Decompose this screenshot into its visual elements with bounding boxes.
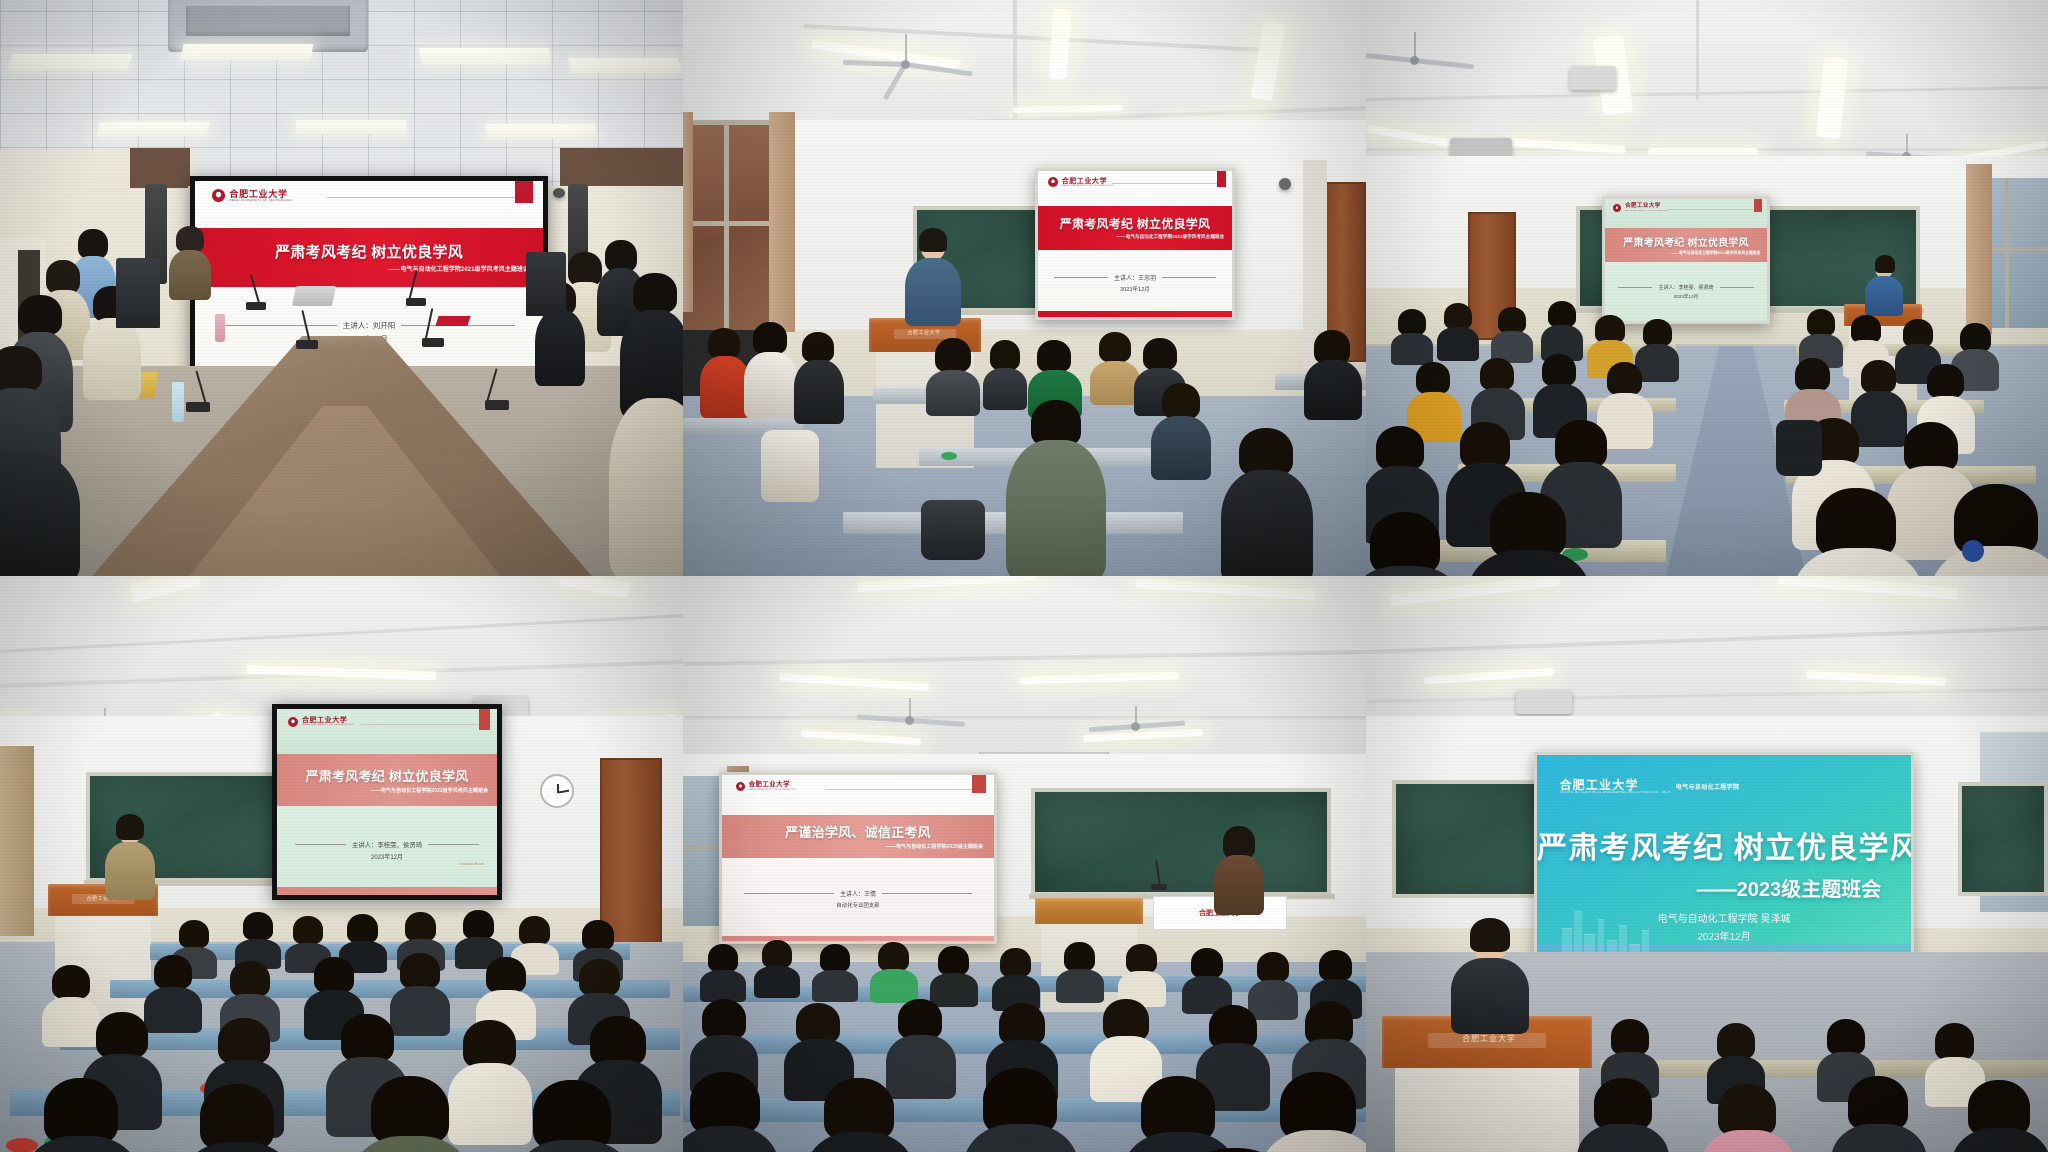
curtain: [769, 112, 795, 332]
speaker: [1215, 830, 1263, 912]
speaker: [1452, 924, 1528, 1030]
projector-screen[interactable]: 合肥工业大学 HEFEI UNIVERSITY OF TECHNOLOGY 严肃…: [1035, 168, 1235, 320]
slide-subtitle: ——电气与自动化工程学院2022级学风考风主题班会: [371, 787, 488, 794]
presenter: [168, 228, 212, 298]
podium-label: 合肥工业大学: [1462, 1033, 1516, 1044]
projector: [1516, 690, 1572, 714]
attendee: [813, 948, 857, 1000]
attendee: [931, 950, 977, 1004]
slide-logo-en: HEFEI UNIVERSITY OF TECHNOLOGY: [749, 789, 797, 791]
office-chair: [526, 252, 566, 316]
water-bottle: [172, 382, 184, 422]
attendee: [745, 326, 797, 418]
slide-presenter: 主讲人：李桂雯、侯贤琦: [352, 840, 422, 849]
attendee: [1474, 500, 1584, 576]
slide-logo-en: SCHOOL OF ELECTRICAL ENGINEERING AND AUT…: [1559, 792, 1670, 795]
attendee: [811, 1086, 909, 1152]
slide-title: 严肃考风考纪 树立优良学风: [275, 241, 463, 262]
attendee: [1057, 946, 1103, 1000]
slide-logo-cn: 合肥工业大学: [1062, 178, 1114, 185]
attendee: [1800, 496, 1916, 576]
attendee: [1021, 406, 1091, 576]
camera: [553, 188, 565, 198]
slide-date: 2023年12月: [1120, 285, 1150, 293]
classroom-window: [1986, 178, 2048, 328]
attendee: [701, 948, 745, 1000]
attendee: [518, 1088, 630, 1152]
attendee: [1706, 1090, 1790, 1152]
attendee: [1938, 492, 2048, 576]
slide-subtitle: ——电气与自动化工程学院2021级学风考风主题班会: [388, 264, 529, 273]
attendee: [927, 342, 979, 412]
attendee: [1836, 1082, 1922, 1152]
backpack: [921, 500, 985, 560]
attendee: [1091, 336, 1139, 402]
attendee: [889, 1004, 953, 1096]
podium-label: 合肥工业大学: [907, 329, 940, 336]
slide-presenter: 主讲人：李桂雯、侯贤琦: [1658, 284, 1713, 291]
slide-presenter: 电气与自动化工程学院 吴泽城: [1537, 910, 1911, 925]
speaker: [106, 818, 154, 896]
attendee: [1153, 388, 1209, 478]
slide-logo-dept: 电气与自动化工程学院: [1676, 782, 1740, 791]
led-display-screen[interactable]: 合肥工业大学 HEFEI UNIVERSITY OF TECHNOLOGY 严肃…: [272, 704, 502, 900]
slide-subtitle: ——2023级主题班会: [1697, 873, 1882, 902]
slide-title: 严谨治学风、诚信正考风: [785, 822, 931, 841]
slide-watermark: Zhubiao Book: [459, 861, 484, 866]
attendee: [1305, 334, 1361, 420]
classroom-window: [683, 120, 773, 330]
attendee: [1183, 952, 1231, 1010]
slide-date: 2023年12月: [371, 852, 403, 861]
photo-panel-3[interactable]: 合肥工业大学 HEFEI UNIVERSITY OF TECHNOLOGY 严肃…: [1366, 0, 2048, 576]
photo-collage: 合肥工业大学 HEFEI UNIVERSITY OF TECHNOLOGY 严肃…: [0, 0, 2048, 1152]
attendee: [993, 952, 1039, 1008]
attendee: [612, 398, 683, 576]
slide-presenter: 主讲人：刘开阳: [343, 320, 396, 331]
attendee: [1438, 306, 1478, 358]
projector-screen[interactable]: 合肥工业大学 HEFEI UNIVERSITY OF TECHNOLOGY 严谨…: [719, 772, 997, 944]
photo-panel-5[interactable]: 合肥工业大学 HEFEI UNIVERSITY OF TECHNOLOGY 严谨…: [683, 576, 1366, 1152]
slide-presenter: 主讲人：王倩: [840, 889, 876, 898]
slide-title: 严肃考风考纪 树立优良学风: [306, 766, 469, 785]
attendee: [622, 278, 683, 418]
attendee: [1265, 1080, 1366, 1152]
attendee: [1119, 948, 1165, 1004]
slide-title: 严肃考风考纪 树立优良学风: [1537, 823, 1911, 867]
slide-logo-cn: 合肥工业大学: [229, 190, 293, 199]
slide-logo-en: HEFEI UNIVERSITY OF TECHNOLOGY: [1625, 210, 1669, 212]
name-card: [435, 316, 470, 326]
camera: [1279, 178, 1291, 190]
attendee: [755, 944, 799, 996]
slide-logo: 合肥工业大学 SCHOOL OF ELECTRICAL ENGINEERING …: [1559, 779, 1739, 795]
attendee: [1542, 304, 1582, 358]
attendee: [701, 332, 749, 418]
attendee: [969, 1076, 1073, 1152]
curtain: [1966, 164, 1992, 334]
slide-logo: 合肥工业大学 HEFEI UNIVERSITY OF TECHNOLOGY: [212, 189, 293, 202]
speaker: [1866, 258, 1902, 312]
slide-logo-cn: 合肥工业大学: [1559, 779, 1670, 792]
attendee: [0, 452, 76, 576]
office-chair: [116, 258, 160, 328]
slide-panel-4: 合肥工业大学 HEFEI UNIVERSITY OF TECHNOLOGY 严肃…: [277, 709, 497, 895]
projector: [1570, 66, 1616, 90]
slide-date: 2023年12月: [1674, 294, 1699, 300]
slide-subtitle: ——电气与自动化工程学院2020级主题班会: [886, 843, 983, 850]
attendee: [356, 1084, 466, 1152]
photo-panel-2[interactable]: 合肥工业大学 HEFEI UNIVERSITY OF TECHNOLOGY 严肃…: [683, 0, 1366, 576]
water-bottle: [215, 314, 225, 342]
attendee: [1582, 1084, 1664, 1152]
attendee: [186, 1092, 290, 1152]
slide-subtitle: ——电气与自动化工程学院2021级学风考风主题班会: [1116, 234, 1224, 240]
attendee: [1127, 1084, 1233, 1152]
slide-panel-2: 合肥工业大学 HEFEI UNIVERSITY OF TECHNOLOGY 严肃…: [1038, 171, 1232, 317]
slide-title: 严肃考风考纪 树立优良学风: [1623, 234, 1748, 249]
backpack: [1776, 420, 1822, 476]
attendee: [236, 916, 280, 966]
slide-presenter: 主讲人：王忠羽: [1114, 273, 1156, 282]
slide-logo-en: HEFEI UNIVERSITY OF TECHNOLOGY: [1062, 185, 1114, 187]
attendee: [1956, 1086, 2046, 1152]
slide-panel-3: 合肥工业大学 HEFEI UNIVERSITY OF TECHNOLOGY 严肃…: [1605, 199, 1767, 321]
desk-sticker: [941, 452, 957, 460]
slide-logo-en: HEFEI UNIVERSITY OF TECHNOLOGY: [302, 724, 354, 726]
slide-subtitle: ——电气与自动化工程学院2022级学风考风主题班会: [1671, 251, 1760, 256]
laptop: [292, 286, 336, 306]
attendee: [1392, 312, 1432, 362]
slide-title: 严肃考风考纪 树立优良学风: [1060, 215, 1210, 232]
attendee: [1800, 312, 1842, 364]
photo-panel-6[interactable]: 合肥工业大学 SCHOOL OF ELECTRICAL ENGINEERING …: [1366, 576, 2048, 1152]
ceiling-light: [7, 54, 132, 70]
attendee: [983, 344, 1027, 408]
projector-screen[interactable]: 合肥工业大学 HEFEI UNIVERSITY OF TECHNOLOGY 严肃…: [1602, 196, 1770, 324]
wall-clock: [540, 774, 574, 808]
attendee: [1227, 434, 1307, 576]
speaker: [905, 232, 961, 324]
attendee: [1249, 956, 1297, 1016]
slide-logo-en: HEFEI UNIVERSITY OF TECHNOLOGY: [229, 199, 293, 202]
attendee: [1492, 310, 1532, 360]
jacket-logo-patch: [1962, 540, 1984, 562]
attendee: [1366, 520, 1456, 576]
slide-panel-5: 合肥工业大学 HEFEI UNIVERSITY OF TECHNOLOGY 严谨…: [722, 775, 994, 941]
slide-logo-cn: 合肥工业大学: [1625, 204, 1669, 210]
attendee: [683, 1080, 773, 1152]
photo-panel-1[interactable]: 合肥工业大学 HEFEI UNIVERSITY OF TECHNOLOGY 严肃…: [0, 0, 683, 576]
slide-date: 自动化专业团支部: [836, 901, 879, 909]
chalkboard: [1031, 788, 1331, 896]
attendee: [30, 1086, 134, 1152]
attendee: [795, 336, 843, 424]
podium: [1035, 898, 1143, 924]
slide-date: 2023年12月: [1537, 928, 1911, 943]
backpack: [761, 430, 819, 502]
attendee: [871, 946, 917, 1000]
photo-panel-4[interactable]: 合肥工业大学 HEFEI UNIVERSITY OF TECHNOLOGY 严肃…: [0, 576, 683, 1152]
curtain: [0, 746, 34, 936]
